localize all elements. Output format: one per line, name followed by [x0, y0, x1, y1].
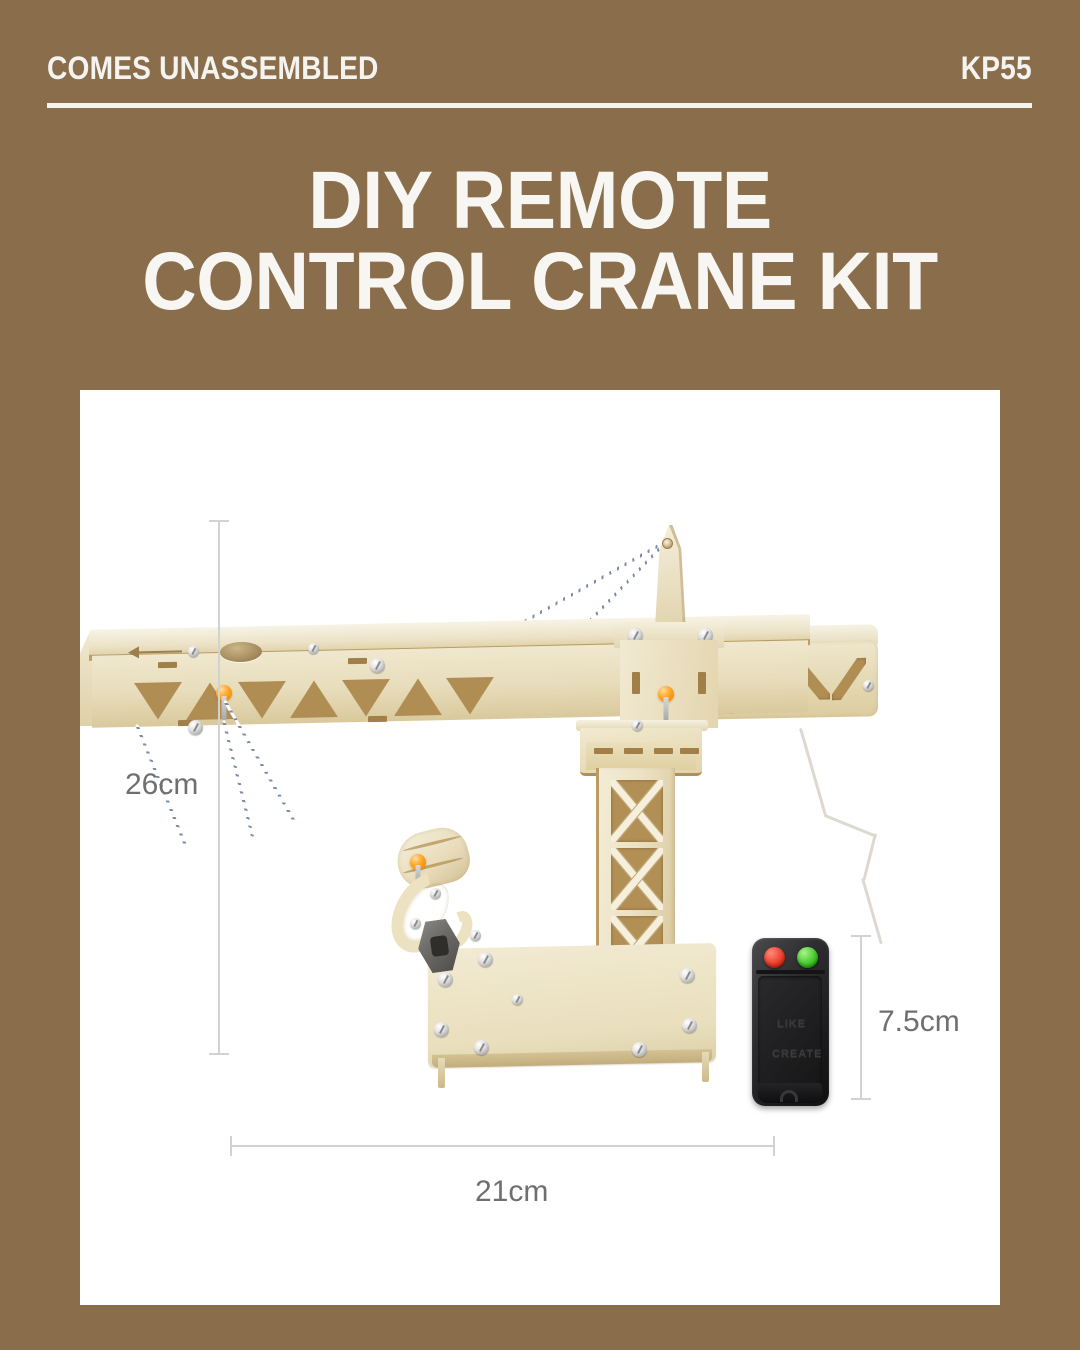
page-title-line-2: CONTROL CRANE KIT [43, 241, 1037, 322]
width-dimension-label: 21cm [475, 1175, 548, 1209]
mast-slot [632, 672, 640, 694]
page-title-line-1: DIY REMOTE [43, 160, 1037, 241]
remote-seam [756, 970, 825, 974]
jib-slot [368, 716, 387, 722]
jib-screw [188, 720, 203, 735]
base-screw [680, 968, 695, 983]
remote-wire [862, 833, 877, 880]
base-screw [434, 1022, 449, 1037]
remote-strap-notch [780, 1090, 798, 1102]
header-row: COMES UNASSEMBLED KP55 [47, 52, 1032, 96]
page-header: COMES UNASSEMBLED KP55 [0, 0, 1080, 120]
base-screw [438, 972, 453, 987]
remote-height-dimension-line [860, 935, 862, 1100]
sku-code: KP55 [961, 52, 1032, 84]
remote-wire [824, 814, 877, 838]
mast-apex-hole [662, 538, 673, 549]
base-screw [682, 1018, 697, 1033]
jib-direction-arrow-icon [128, 644, 184, 659]
jib-screw [188, 646, 199, 657]
base-screw [512, 994, 523, 1005]
base-plate [428, 943, 716, 1067]
remote-emboss-line-1: LIKE [777, 1018, 806, 1030]
house-slot [654, 748, 673, 754]
eyebrow-label: COMES UNASSEMBLED [47, 52, 379, 84]
hoist-cord-a [222, 720, 254, 837]
jib-screw [370, 658, 385, 673]
pulley-rivet [410, 854, 426, 870]
hook-screw [470, 930, 481, 941]
hook-screw [410, 918, 421, 929]
base-leg [702, 1052, 709, 1082]
mast-center-rivet [658, 686, 674, 702]
header-divider [47, 103, 1032, 108]
remote-green-button[interactable] [797, 947, 818, 968]
base-screw [478, 952, 493, 967]
jib-screw [308, 643, 319, 654]
page-title: DIY REMOTE CONTROL CRANE KIT [0, 160, 1080, 322]
remote-emboss-line-2: CREATE [772, 1048, 822, 1060]
base-leg [438, 1058, 445, 1088]
house-slot [594, 748, 613, 754]
house-slot [624, 748, 643, 754]
remote-wire [799, 728, 827, 817]
base-screw [632, 1042, 647, 1057]
mast-slot [698, 672, 706, 694]
metal-nut-hole [430, 935, 450, 957]
hook-screw [430, 888, 441, 899]
house-slot [680, 748, 699, 754]
product-photo-panel: LIKE CREATE 26cm 7.5cm 21cm [80, 390, 1000, 1305]
house-screw [632, 720, 643, 731]
jib-slot [158, 662, 177, 668]
remote-inset-panel [758, 976, 822, 1086]
counter-jib-screw [863, 680, 874, 691]
height-dimension-line [218, 520, 220, 1055]
base-screw [474, 1040, 489, 1055]
remote-red-button[interactable] [764, 947, 785, 968]
machinery-house-face [586, 742, 696, 770]
height-dimension-label: 26cm [125, 768, 198, 802]
jib-slot [348, 658, 367, 664]
width-dimension-line [230, 1145, 775, 1147]
remote-height-dimension-label: 7.5cm [878, 1005, 960, 1039]
